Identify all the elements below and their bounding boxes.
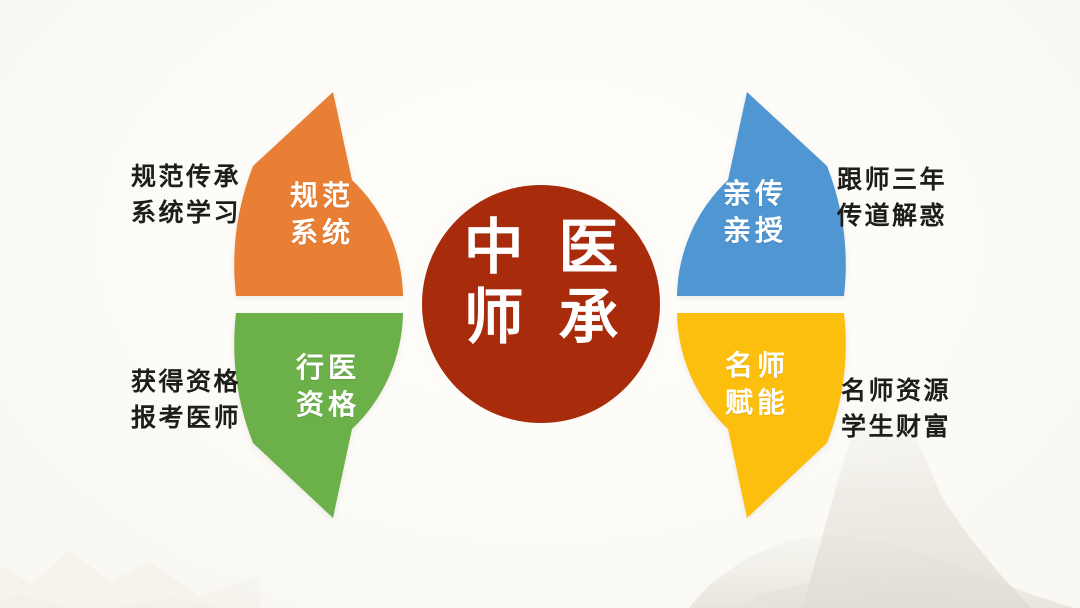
caption-bottom-left: 获得资格 报考医师 bbox=[131, 365, 241, 436]
petal-orange-line2: 系统 bbox=[262, 215, 382, 252]
diagram-canvas: 规范 系统 行医 资格 亲传 亲授 名师 赋能 中 医 师 承 规范传承 系统学… bbox=[0, 0, 1080, 608]
petal-label-green: 行医 资格 bbox=[268, 350, 388, 424]
caption-top-right-line1: 跟师三年 bbox=[837, 163, 947, 199]
petal-gold-line1: 名师 bbox=[697, 348, 817, 385]
petal-blue-line2: 亲授 bbox=[695, 213, 815, 250]
petal-green-line1: 行医 bbox=[268, 350, 388, 387]
petal-green-line2: 资格 bbox=[268, 387, 388, 424]
petal-label-orange: 规范 系统 bbox=[262, 178, 382, 252]
caption-top-left-line2: 系统学习 bbox=[131, 196, 241, 232]
caption-top-right-line2: 传道解惑 bbox=[837, 199, 947, 235]
petal-orange-line1: 规范 bbox=[262, 178, 382, 215]
caption-bottom-left-line2: 报考医师 bbox=[131, 401, 241, 437]
caption-bottom-right-line1: 名师资源 bbox=[841, 374, 951, 410]
caption-top-left-line1: 规范传承 bbox=[131, 160, 241, 196]
center-title-line2: 师 承 bbox=[438, 283, 644, 353]
caption-bottom-right: 名师资源 学生财富 bbox=[841, 374, 951, 445]
caption-top-left: 规范传承 系统学习 bbox=[131, 160, 241, 231]
caption-bottom-left-line1: 获得资格 bbox=[131, 365, 241, 401]
petal-label-gold: 名师 赋能 bbox=[697, 348, 817, 422]
petal-label-blue: 亲传 亲授 bbox=[695, 176, 815, 250]
caption-top-right: 跟师三年 传道解惑 bbox=[837, 163, 947, 234]
petal-gold-line2: 赋能 bbox=[697, 385, 817, 422]
caption-bottom-right-line2: 学生财富 bbox=[841, 410, 951, 446]
center-title-line1: 中 医 bbox=[438, 213, 644, 283]
petal-blue-line1: 亲传 bbox=[695, 176, 815, 213]
center-title: 中 医 师 承 bbox=[438, 213, 644, 352]
